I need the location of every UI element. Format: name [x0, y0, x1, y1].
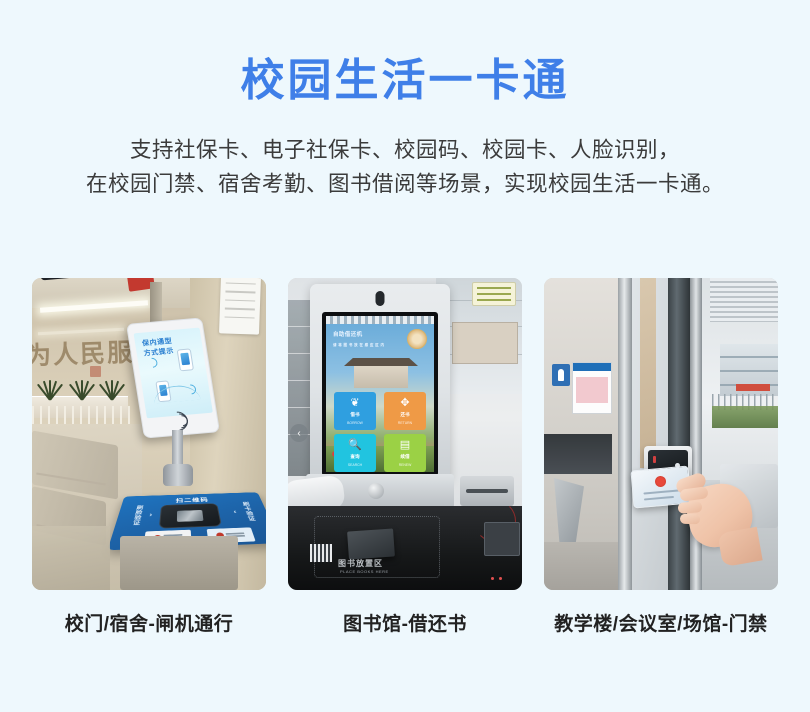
caption-gate: 校门/宿舍-闸机通行	[32, 609, 266, 636]
scenario-card-list: 为人民服务	[32, 278, 778, 636]
status-led-1	[491, 577, 494, 580]
subtitle-line-2: 在校园门禁、宿舍考勤、图书借阅等场景，实现校园生活一卡通。	[0, 167, 810, 202]
pad-label: 图书放置区	[338, 558, 383, 569]
return-box-icon: ✥	[400, 398, 409, 409]
kiosk-tile-renew-label: 续借	[400, 454, 409, 460]
kiosk-header-sub: 请 将 图 书 放 在 感 应 区 内	[333, 343, 384, 347]
wood-panel-reflection	[640, 278, 656, 468]
page-title: 校园生活一卡通	[0, 56, 810, 107]
kiosk-tile-renew[interactable]: ▤ 续借 RENEW	[384, 434, 426, 472]
card-verify-label: 刷卡验证	[240, 502, 257, 522]
reader-status-led	[653, 456, 656, 463]
chevron-left-icon: ‹	[233, 508, 238, 515]
status-led-2	[499, 577, 502, 580]
screen-top-banner	[326, 316, 434, 324]
qr-scanner-window[interactable]	[159, 503, 222, 528]
face-verify-label: 刷脸验证	[130, 505, 144, 526]
posted-notice-paper	[219, 278, 261, 335]
screen-bezel: 自助借还机 请 将 图 书 放 在 感 应 区 内	[322, 312, 438, 476]
campus-gate-photo	[344, 358, 418, 388]
kiosk-header-title: 自助借还机	[333, 332, 363, 338]
kiosk-tile-borrow-sub: BORROW	[347, 421, 363, 425]
page-header: 校园生活一卡通 支持社保卡、电子社保卡、校园码、校园卡、人脸识别， 在校园门禁、…	[0, 0, 810, 202]
subtitle-line-1: 支持社保卡、电子社保卡、校园码、校园卡、人脸识别，	[0, 133, 810, 168]
finger-ring	[680, 514, 700, 525]
mounting-bracket	[150, 282, 162, 324]
hand-holding-card	[674, 474, 756, 558]
planter-railing	[32, 406, 130, 426]
placed-book	[347, 528, 395, 559]
chevron-left-icon[interactable]: ‹	[290, 424, 308, 442]
kiosk-tile-return[interactable]: ✥ 还书 RETURN	[384, 392, 426, 430]
kiosk-tile-borrow[interactable]: ❦ 借书 BORROW	[334, 392, 376, 430]
kiosk-tile-search-sub: SEARCH	[348, 463, 362, 467]
outside-red-sign	[736, 384, 770, 391]
finger-middle	[678, 501, 703, 514]
photo-door-access	[544, 278, 778, 590]
renew-icon: ▤	[400, 440, 410, 451]
self-service-kiosk[interactable]: 自助借还机 请 将 图 书 放 在 感 应 区 内	[310, 284, 450, 480]
page-root: 校园生活一卡通 支持社保卡、电子社保卡、校园码、校园卡、人脸识别， 在校园门禁、…	[0, 0, 810, 712]
kiosk-header-text: 自助借还机 请 将 图 书 放 在 感 应 区 内	[333, 330, 384, 351]
kiosk-tile-return-label: 还书	[400, 412, 409, 418]
card-text-line-2	[644, 496, 674, 501]
outside-hedge	[712, 406, 778, 428]
pad-sublabel: PLACE BOOKS HERE	[340, 569, 389, 574]
phone-illustration-1	[177, 348, 194, 371]
kiosk-tile-search-label: 查询	[350, 454, 359, 460]
ceiling-blinds	[710, 278, 778, 322]
photo-library-kiosk: 自助借还机 请 将 图 书 放 在 感 应 区 内	[288, 278, 522, 590]
interior-counter	[544, 434, 612, 474]
turnstile-pedestal-left	[32, 526, 110, 590]
kiosk-tile-search[interactable]: 🔍 查询 SEARCH	[334, 434, 376, 472]
wall-rack	[452, 322, 518, 364]
kiosk-tile-borrow-label: 借书	[350, 412, 359, 418]
photo-gate-turnstile: 为人民服务	[32, 278, 266, 590]
chevron-right-icon: ›	[149, 511, 153, 518]
plant-1	[38, 374, 64, 400]
caption-library: 图书馆-借还书	[288, 609, 522, 636]
poster-body	[576, 377, 608, 403]
page-subtitle: 支持社保卡、电子社保卡、校园码、校园卡、人脸识别， 在校园门禁、宿舍考勤、图书借…	[0, 133, 810, 203]
caption-access-control: 教学楼/会议室/场馆-门禁	[544, 609, 778, 636]
interior-floor	[544, 542, 618, 590]
plant-3	[100, 374, 126, 400]
plant-2	[70, 374, 96, 400]
kiosk-camera-icon	[376, 291, 385, 306]
kiosk-tile-renew-sub: RENEW	[399, 463, 412, 467]
turnstile-pedestal	[120, 536, 238, 590]
door-frame-left	[618, 278, 632, 590]
restroom-sign-icon	[552, 364, 570, 386]
terminal-screen-title: 保内通型方式提示	[142, 337, 175, 360]
scenario-card-library[interactable]: 自助借还机 请 将 图 书 放 在 感 应 区 内	[288, 278, 522, 636]
wall-sign	[472, 282, 516, 306]
scenario-card-gate[interactable]: 为人民服务	[32, 278, 266, 636]
book-stack	[310, 544, 332, 562]
side-device	[484, 522, 520, 556]
book-icon: ❦	[350, 398, 359, 409]
wall-poster	[572, 362, 612, 414]
kiosk-knob	[368, 483, 384, 499]
terminal-screen[interactable]: 保内通型方式提示	[134, 328, 213, 419]
kiosk-touchscreen[interactable]: 自助借还机 请 将 图 书 放 在 感 应 区 内	[326, 316, 434, 472]
school-emblem-icon	[407, 329, 427, 349]
terminal-pole-base	[163, 464, 193, 486]
kiosk-tile-return-sub: RETURN	[398, 421, 412, 425]
wrist	[717, 527, 762, 567]
search-icon: 🔍	[348, 440, 362, 451]
nfc-reader-icon	[168, 413, 194, 429]
national-emblem-icon	[655, 476, 667, 488]
poster-header	[573, 363, 611, 371]
scenario-card-access-control[interactable]: 教学楼/会议室/场馆-门禁	[544, 278, 778, 636]
